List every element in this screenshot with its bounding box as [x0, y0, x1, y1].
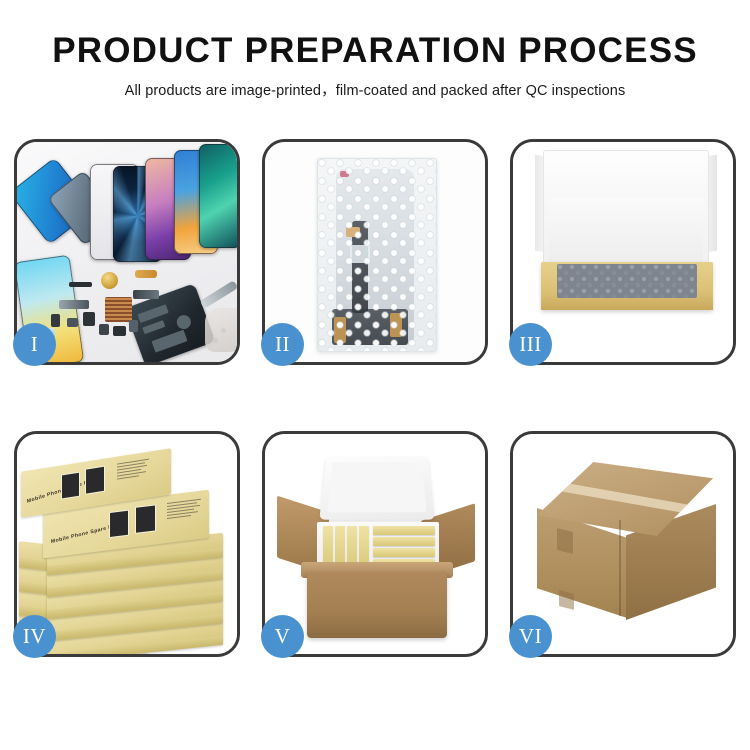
step-badge-3: III — [509, 323, 552, 366]
packed-yellow-box — [373, 548, 435, 557]
carton-body — [307, 572, 447, 638]
hand — [205, 308, 237, 352]
step-badge-1: I — [13, 323, 56, 366]
step-panel-4: Mobile Phone Spare Parts Mobile Phone Sp… — [14, 431, 240, 657]
step-badge-5: V — [261, 615, 304, 658]
bubble-wrapped-contents — [557, 264, 697, 298]
bubble-texture — [318, 159, 436, 351]
step-panel-3: III — [510, 139, 736, 365]
foam-lid-open — [319, 456, 434, 519]
step-panel-1: I — [14, 139, 240, 365]
small-component-5 — [113, 326, 126, 336]
speaker-coil-part — [101, 272, 118, 289]
packed-yellow-box — [373, 537, 435, 546]
step-panel-6: VI — [510, 431, 736, 657]
earpiece-mesh-part — [69, 282, 92, 287]
small-component-6 — [129, 320, 138, 332]
small-component-3 — [83, 312, 95, 326]
process-steps-grid: I II — [14, 139, 736, 679]
flex-cable-gray-part — [59, 300, 89, 309]
page-title: PRODUCT PREPARATION PROCESS — [0, 33, 750, 70]
page-subtitle: All products are image-printed，film-coat… — [0, 79, 750, 100]
bubble-wrap-bag — [317, 158, 437, 352]
step-badge-6: VI — [509, 615, 552, 658]
carton-tab-lower — [559, 590, 574, 610]
step-badge-2: II — [261, 323, 304, 366]
small-component-1 — [51, 314, 60, 327]
step-panel-5: V — [262, 431, 488, 657]
step-panel-2: II — [262, 139, 488, 365]
foam-sheet — [549, 198, 703, 264]
infographic-page: PRODUCT PREPARATION PROCESS All products… — [0, 0, 750, 750]
small-component-2 — [67, 318, 78, 327]
packed-yellow-box — [373, 526, 435, 535]
small-component-4 — [99, 324, 109, 335]
flex-cable-dark-part — [133, 290, 159, 299]
step-badge-4: IV — [13, 615, 56, 658]
carton-tab-upper — [557, 528, 573, 554]
copper-shield-part — [105, 297, 132, 322]
header: PRODUCT PREPARATION PROCESS All products… — [0, 0, 750, 100]
flex-cable-gold-part — [135, 270, 157, 278]
phone-display-teal — [199, 144, 237, 248]
carton-corner-seam — [619, 520, 621, 616]
